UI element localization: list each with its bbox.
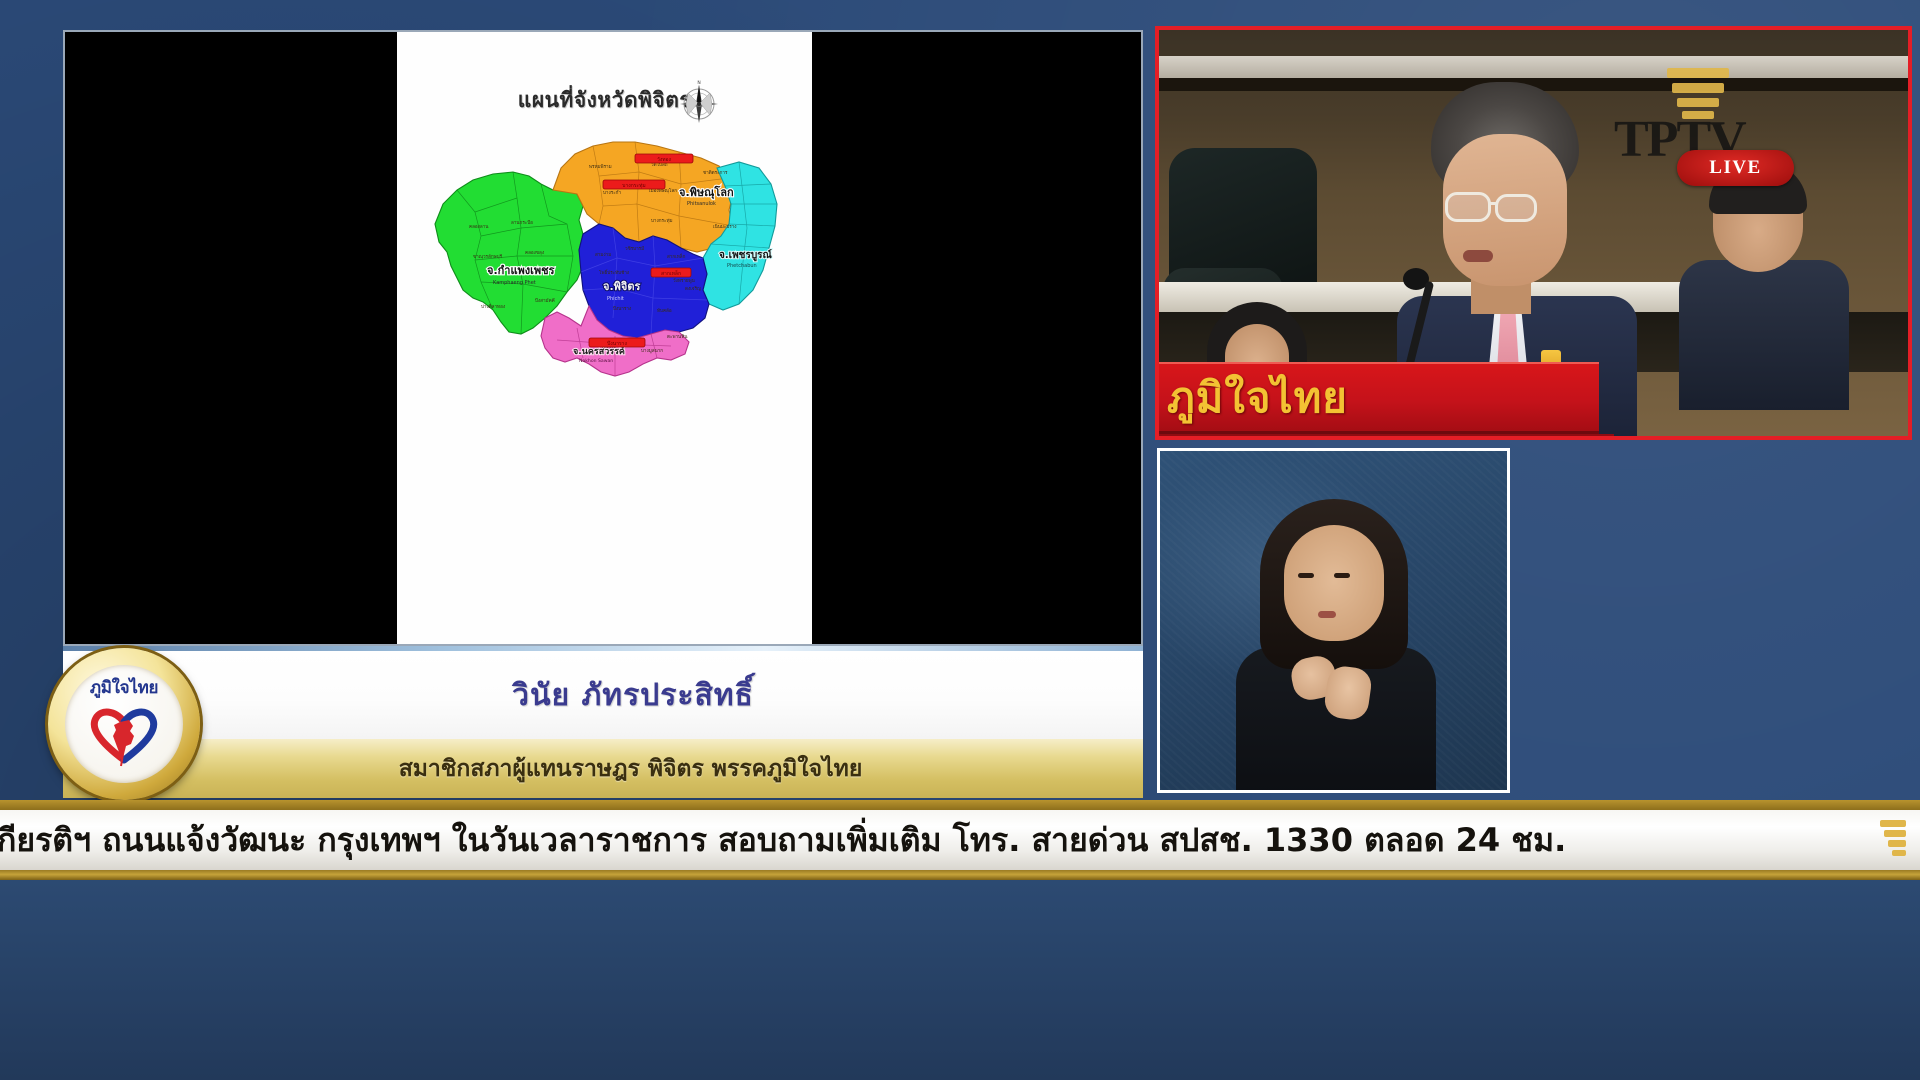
svg-text:จ.พิษณุโลก: จ.พิษณุโลก: [679, 185, 734, 200]
svg-text:ดงเจริญ: ดงเจริญ: [685, 286, 701, 292]
desk-party-sign-text: ภูมิใจไทย: [1159, 365, 1348, 431]
svg-text:ปางศิลาทอง: ปางศิลาทอง: [481, 304, 505, 310]
party-logo-inner: ภูมิใจไทย: [65, 665, 183, 783]
party-heart-icon: [84, 698, 164, 768]
party-logo-badge: ภูมิใจไทย: [48, 648, 200, 800]
desk-party-sign-base: [1159, 434, 1614, 440]
live-badge: LIVE: [1677, 150, 1794, 186]
svg-text:บึงสามัคคี: บึงสามัคคี: [535, 297, 555, 304]
svg-text:สากเหล็ก: สากเหล็ก: [661, 269, 681, 277]
svg-text:Nakhon Sawan: Nakhon Sawan: [579, 358, 613, 364]
presentation-slide: แผนที่จังหวัดพิจิตร N: [397, 32, 812, 644]
interpreter-mouth: [1318, 611, 1336, 618]
svg-text:บางกระทุ่ม: บางกระทุ่ม: [622, 183, 645, 189]
svg-text:วังทอง: วังทอง: [657, 157, 672, 163]
svg-text:สามง่าม: สามง่าม: [595, 252, 611, 258]
svg-text:N: N: [697, 80, 700, 86]
svg-text:Kamphaeng Phet: Kamphaeng Phet: [493, 280, 536, 286]
interpreter-eye-left: [1298, 573, 1314, 578]
svg-text:คลองลาน: คลองลาน: [469, 225, 489, 230]
slide-title: แผนที่จังหวัดพิจิตร: [397, 84, 812, 117]
svg-text:ทับคล้อ: ทับคล้อ: [657, 307, 672, 314]
svg-text:จ.เพชรบูรณ์: จ.เพชรบูรณ์: [719, 249, 773, 262]
svg-text:จ.กำแพงเพชร: จ.กำแพงเพชร: [487, 264, 555, 277]
thailand-province-map: จ.กำแพงเพชร Kamphaeng Phet จ.พิษณุโลก Ph…: [417, 132, 797, 382]
svg-text:วชิรบารมี: วชิรบารมี: [625, 245, 644, 252]
ticker-logo-tail: [1880, 818, 1906, 862]
svg-text:บางระกำ: บางระกำ: [603, 190, 621, 196]
main-video-panel[interactable]: แผนที่จังหวัดพิจิตร N: [63, 30, 1143, 646]
ticker-under-area: [0, 880, 1920, 1080]
speaker-name: วินัย ภัทรประสิทธิ์: [452, 672, 754, 719]
mp-glasses-right-lens: [1495, 194, 1537, 222]
svg-text:บึงนาราง: บึงนาราง: [607, 340, 627, 347]
svg-text:บางมูลนาก: บางมูลนาก: [641, 349, 663, 354]
svg-text:ชาติตระการ: ชาติตระการ: [703, 170, 728, 176]
svg-text:เนินมะปราง: เนินมะปราง: [713, 224, 737, 230]
compass-rose-icon: N: [675, 80, 723, 128]
speaker-role: สมาชิกสภาผู้แทนราษฎร พิจิตร พรรคภูมิใจไท…: [344, 751, 863, 787]
svg-text:Phetchabun: Phetchabun: [727, 263, 757, 269]
map-svg: จ.กำแพงเพชร Kamphaeng Phet จ.พิษณุโลก Ph…: [417, 132, 797, 382]
ticker-bottom-gold-bar: [0, 870, 1920, 880]
interpreter-person: [1218, 499, 1450, 793]
mp-glasses-bridge: [1490, 202, 1498, 205]
sign-language-interpreter-panel[interactable]: [1157, 448, 1510, 793]
svg-text:คลองขลุง: คลองขลุง: [525, 251, 544, 256]
live-badge-text: LIVE: [1709, 157, 1761, 179]
ticker-top-gold-bar: [0, 800, 1920, 810]
news-ticker: เกียรติฯ ถนนแจ้งวัฒนะ กรุงเทพฯ ในวันเวลา…: [0, 810, 1920, 870]
svg-text:จ.พิจิตร: จ.พิจิตร: [603, 280, 640, 293]
lower-third-banner: วินัย ภัทรประสิทธิ์ สมาชิกสภาผู้แทนราษฎร…: [63, 646, 1143, 798]
mp-mouth: [1463, 250, 1493, 262]
wall-light-strip: [1159, 56, 1908, 78]
province-shape-kamphaengphet: [435, 172, 583, 334]
tptv-bars-icon: [1662, 68, 1734, 116]
interpreter-eye-right: [1334, 573, 1350, 578]
lower-third-name-band: วินัย ภัทรประสิทธิ์: [63, 651, 1143, 739]
svg-text:บึงนาราง: บึงนาราง: [613, 306, 631, 312]
svg-text:ลานกระบือ: ลานกระบือ: [511, 219, 533, 226]
background-person-right: [1679, 168, 1849, 408]
svg-text:ตะพานหิน: ตะพานหิน: [667, 334, 688, 340]
svg-text:บางกระทุ่ม: บางกระทุ่ม: [651, 218, 673, 224]
svg-text:วังทรายพูน: วังทรายพูน: [673, 277, 696, 284]
interpreter-face: [1284, 525, 1384, 641]
svg-text:พรหมพิราม: พรหมพิราม: [589, 164, 612, 170]
svg-text:ขาณุวรลักษบุรี: ขาณุวรลักษบุรี: [473, 253, 503, 260]
desk-party-sign: ภูมิใจไทย: [1159, 362, 1599, 434]
ticker-text: เกียรติฯ ถนนแจ้งวัฒนะ กรุงเทพฯ ในวันเวลา…: [0, 815, 1566, 866]
svg-text:Phitsanulok: Phitsanulok: [687, 201, 716, 207]
svg-text:Phichit: Phichit: [607, 296, 624, 302]
background-person-body: [1679, 260, 1849, 410]
lower-third-role-band: สมาชิกสภาผู้แทนราษฎร พิจิตร พรรคภูมิใจไท…: [63, 739, 1143, 798]
party-logo-text: ภูมิใจไทย: [90, 680, 158, 697]
mp-glasses-left-lens: [1445, 192, 1491, 222]
speaker-video-panel[interactable]: TPTV ภูมิใจไทย: [1155, 26, 1912, 440]
